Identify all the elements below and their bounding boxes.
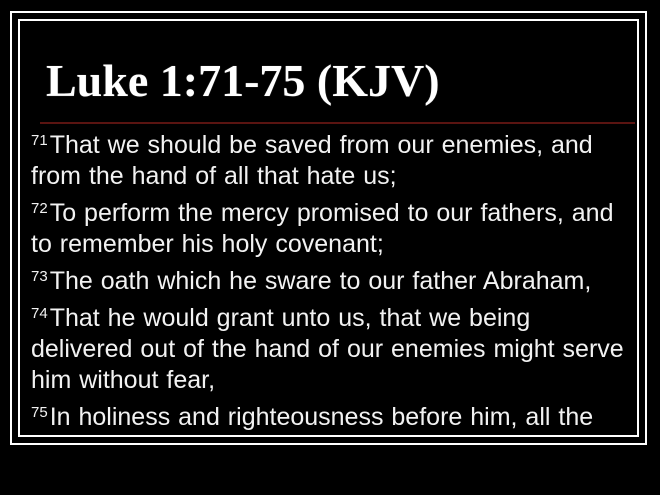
- verse-text: To perform the mercy promised to our fat…: [31, 199, 614, 258]
- verse-paragraph: 71That we should be saved from our enemi…: [31, 130, 635, 192]
- verse-list: 71That we should be saved from our enemi…: [31, 130, 635, 433]
- slide-title: Luke 1:71-75 (KJV): [46, 56, 440, 106]
- verse-number: 72: [31, 200, 50, 217]
- scripture-slide: Luke 1:71-75 (KJV) 71That we should be s…: [0, 0, 660, 495]
- verse-text: That he would grant unto us, that we bei…: [31, 304, 624, 394]
- verse-number: 73: [31, 268, 50, 285]
- verse-paragraph: 75In holiness and righteousness before h…: [31, 402, 635, 433]
- verse-paragraph: 72To perform the mercy promised to our f…: [31, 198, 635, 260]
- verse-text: The oath which he sware to our father Ab…: [50, 267, 592, 295]
- slide-content: Luke 1:71-75 (KJV) 71That we should be s…: [22, 23, 635, 433]
- verse-paragraph: 74That he would grant unto us, that we b…: [31, 303, 635, 396]
- verse-number: 71: [31, 132, 50, 149]
- verse-text: That we should be saved from our enemies…: [31, 131, 593, 190]
- verse-paragraph: 73The oath which he sware to our father …: [31, 266, 635, 297]
- verse-text: In holiness and righteousness before him…: [31, 403, 593, 433]
- verse-number: 74: [31, 305, 50, 322]
- title-divider-rule: [40, 122, 635, 124]
- verse-number: 75: [31, 404, 50, 421]
